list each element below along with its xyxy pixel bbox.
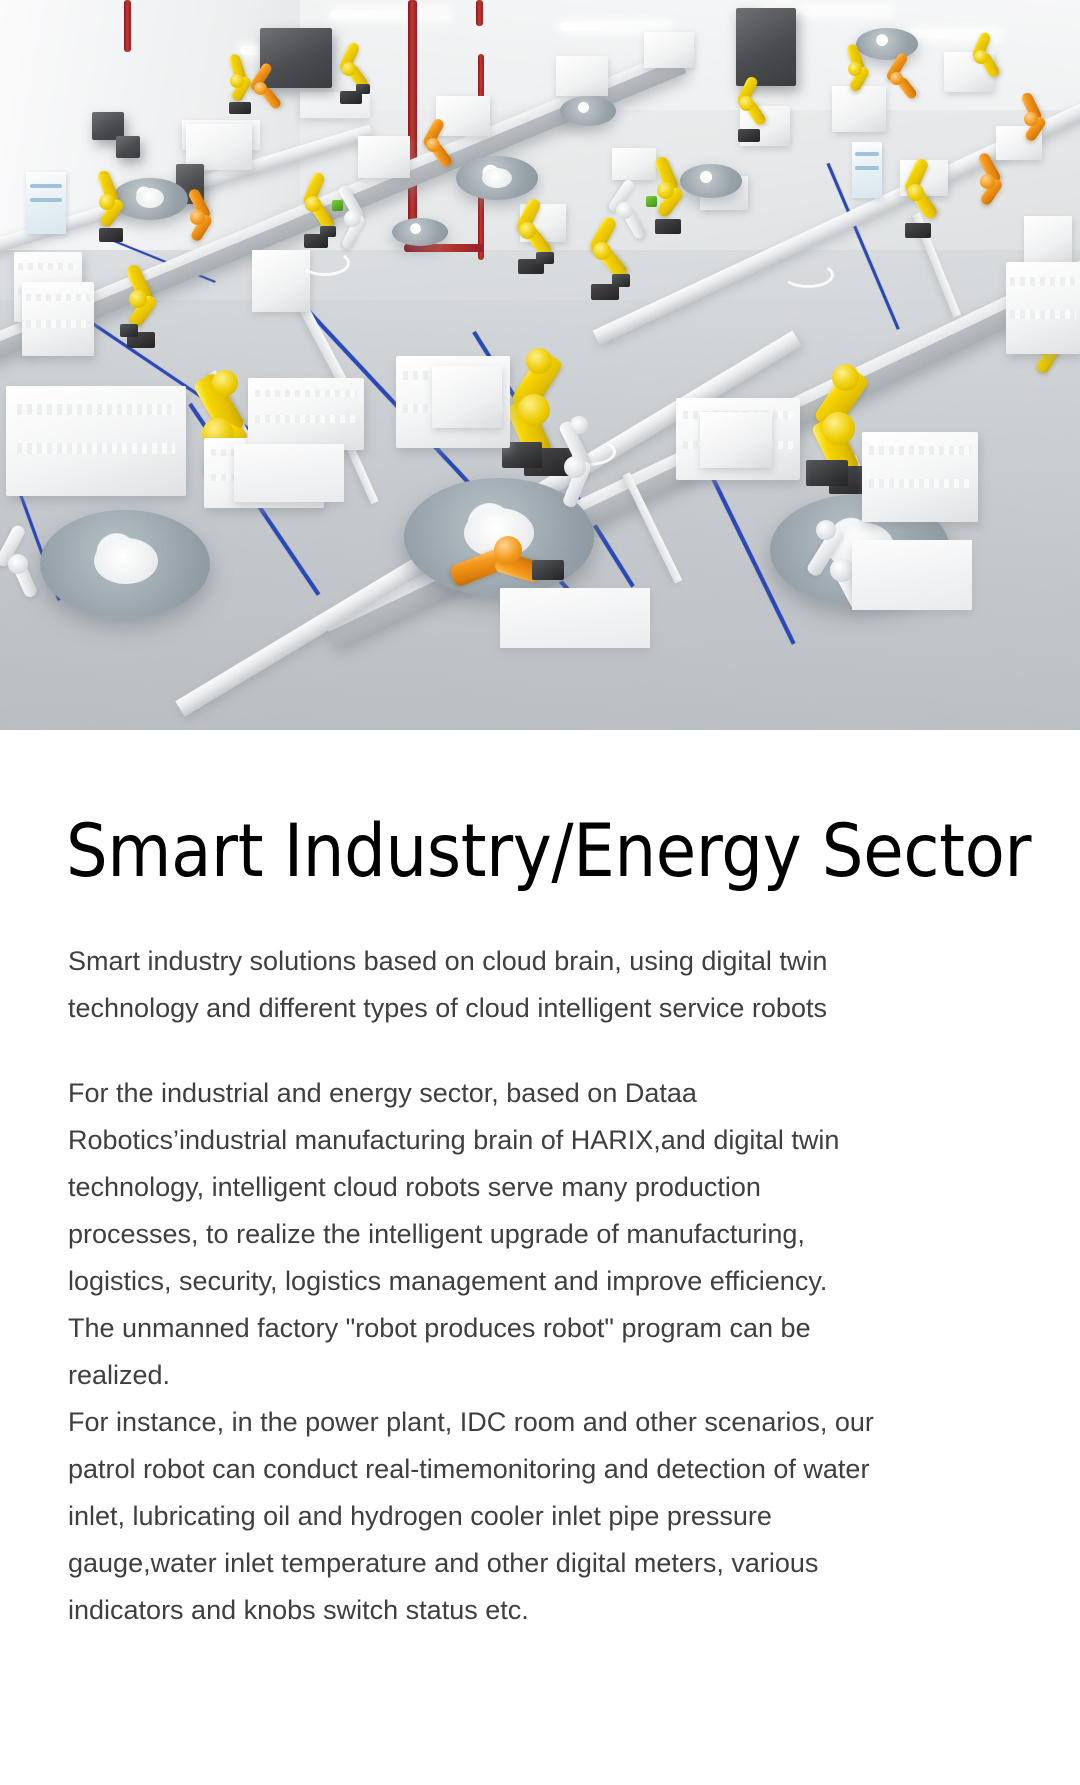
collaborative-robot-arm — [596, 174, 666, 252]
cobot-joint — [564, 456, 586, 478]
collaborative-robot-arm — [540, 416, 630, 516]
page-title: Smart Industry/Energy Sector — [0, 730, 1080, 894]
turntable-disc — [456, 156, 538, 200]
wall-sign — [852, 142, 882, 198]
sign-band — [855, 152, 879, 156]
robot-base — [905, 223, 931, 238]
robot-end-effector — [532, 560, 564, 580]
floor-marking-arc — [782, 262, 834, 288]
collaborative-robot-arm — [326, 180, 396, 260]
turntable-disc — [392, 218, 448, 246]
red-pipe-vertical — [476, 0, 483, 26]
robot-joint — [974, 50, 988, 64]
robotic-arm-yellow — [86, 168, 136, 242]
storage-rack — [6, 386, 186, 496]
cobot-joint — [616, 202, 633, 219]
robot-joint — [832, 364, 859, 391]
body-paragraph-1: For the industrial and energy sector, ba… — [68, 1070, 890, 1305]
lead-paragraph: Smart industry solutions based on cloud … — [68, 938, 880, 1032]
article-content: Smart Industry/Energy Sector Smart indus… — [0, 730, 1080, 1634]
ceiling-light — [330, 10, 450, 19]
robotic-arm-orange — [412, 116, 460, 186]
turntable-disc — [560, 96, 616, 126]
robot-end-effector — [120, 324, 138, 337]
wall-sign — [26, 172, 66, 234]
robot-joint — [129, 290, 147, 308]
robot-end-effector — [806, 460, 848, 486]
robot-joint — [1024, 112, 1038, 126]
cobot-joint — [830, 558, 854, 582]
robot-end-effector — [356, 84, 370, 94]
robot-end-effector — [536, 252, 554, 264]
robotic-arm-orange — [178, 186, 228, 260]
storage-rack — [862, 432, 978, 522]
robot-joint — [212, 370, 238, 396]
robotic-arm-orange — [968, 150, 1018, 224]
factory-render-scene — [0, 0, 1080, 730]
sign-band — [30, 198, 62, 202]
cobot-joint — [8, 554, 28, 574]
cobot-joint — [344, 210, 361, 227]
robot-joint — [190, 210, 205, 225]
turntable-hub — [94, 538, 158, 584]
product-crate — [432, 366, 502, 428]
cobot-joint — [570, 416, 588, 434]
product-crate — [358, 136, 410, 178]
turntable-disc-large — [40, 510, 210, 618]
robot-joint — [822, 412, 855, 445]
robot-joint — [305, 196, 321, 212]
robotic-arm-yellow — [330, 40, 372, 104]
product-crate — [644, 32, 694, 68]
body-paragraph-2: The unmanned factory "robot produces rob… — [68, 1305, 890, 1399]
robotic-arm-yellow — [962, 30, 1006, 92]
robot-joint — [739, 96, 754, 111]
turntable-hub — [482, 168, 512, 188]
robotic-arm-yellow — [112, 262, 170, 348]
cobot-sensor-tip — [646, 196, 657, 207]
robot-joint — [494, 536, 522, 564]
body-paragraph-3: For instance, in the power plant, IDC ro… — [68, 1399, 890, 1634]
robot-joint — [99, 194, 115, 210]
storage-rack — [248, 378, 364, 450]
body-paragraphs: For the industrial and energy sector, ba… — [68, 1070, 890, 1634]
storage-rack — [22, 282, 94, 356]
red-pipe-vertical — [124, 0, 131, 52]
robot-joint — [519, 222, 536, 239]
robot-end-effector — [612, 274, 630, 287]
sign-band — [30, 184, 62, 188]
robotic-arm-yellow — [504, 196, 558, 274]
robot-joint — [426, 138, 440, 152]
robot-joint — [848, 62, 862, 76]
robotic-arm-orange — [240, 58, 286, 124]
robot-joint — [907, 184, 924, 201]
ceiling-light — [560, 22, 670, 31]
hero-image — [0, 0, 1080, 730]
cobot-joint — [816, 520, 836, 540]
work-table — [234, 444, 344, 502]
robot-joint — [980, 174, 995, 189]
robotic-arm-yellow — [726, 74, 772, 142]
work-table — [500, 588, 650, 648]
product-crate — [700, 412, 772, 468]
work-table — [852, 540, 972, 610]
cobot-sensor-tip — [332, 200, 343, 211]
robotic-arm-yellow — [890, 156, 946, 238]
robot-base — [99, 228, 123, 242]
robotic-arm-orange — [876, 50, 922, 116]
product-crate — [556, 56, 608, 96]
robot-joint — [342, 62, 356, 76]
storage-rack — [1006, 262, 1080, 354]
robotic-arm-orange — [1012, 90, 1058, 158]
robot-joint — [526, 348, 552, 374]
robot-joint — [254, 82, 267, 95]
machine-cabinet — [116, 136, 140, 158]
collaborative-robot-arm — [0, 520, 62, 606]
sign-band — [855, 166, 879, 170]
turntable-hub — [136, 188, 164, 208]
robotic-arm-yellow — [836, 42, 880, 106]
robot-base — [738, 129, 760, 142]
product-crate — [1024, 216, 1072, 262]
robot-joint — [890, 72, 903, 85]
